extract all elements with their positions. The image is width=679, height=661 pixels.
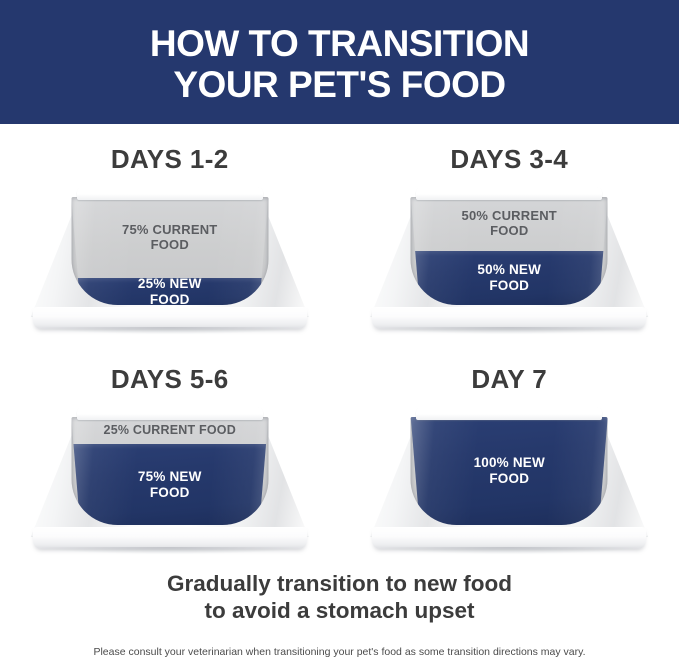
new-food-fill xyxy=(411,417,608,525)
footer: Gradually transition to new food to avoi… xyxy=(0,570,679,658)
tagline-line-2: to avoid a stomach upset xyxy=(204,597,474,624)
header-title-line-1: HOW TO TRANSITION xyxy=(150,23,529,64)
bowl-rim xyxy=(77,187,263,200)
infographic-page: HOW TO TRANSITION YOUR PET'S FOOD DAYS 1… xyxy=(0,0,679,661)
bowl-foot xyxy=(372,307,646,329)
bowl-foot xyxy=(372,527,646,549)
bowl-rim xyxy=(416,407,602,420)
food-bowl-step-1: 75% CURRENTFOOD 25% NEWFOOD xyxy=(31,186,309,330)
transition-step-3: DAYS 5-6 25% CURRENT FOOD 75% NEWFOOD xyxy=(0,344,340,564)
bowl-cavity-inner xyxy=(71,417,268,525)
bowl-cavity: 50% CURRENTFOOD 50% NEWFOOD xyxy=(411,197,608,305)
bowl-rim xyxy=(416,187,602,200)
food-bowl-step-3: 25% CURRENT FOOD 75% NEWFOOD xyxy=(31,406,309,550)
transition-step-4: DAY 7 100% NEWFOOD xyxy=(340,344,679,564)
bowl-cavity-inner xyxy=(411,417,608,525)
day-label-step-3: DAYS 5-6 xyxy=(111,364,229,395)
food-bowl-step-2: 50% CURRENTFOOD 50% NEWFOOD xyxy=(370,186,648,330)
transition-steps-grid: DAYS 1-2 75% CURRENTFOOD 25% NEWFOOD xyxy=(0,124,679,564)
header-banner: HOW TO TRANSITION YOUR PET'S FOOD xyxy=(0,0,679,124)
day-label-step-4: DAY 7 xyxy=(471,364,547,395)
bowl-foot xyxy=(33,527,307,549)
food-bowl-step-4: 100% NEWFOOD xyxy=(370,406,648,550)
new-food-fill xyxy=(411,251,608,305)
bowl-cavity-inner xyxy=(71,197,268,305)
bowl-cavity-inner xyxy=(411,197,608,305)
day-label-step-2: DAYS 3-4 xyxy=(450,144,568,175)
transition-step-1: DAYS 1-2 75% CURRENTFOOD 25% NEWFOOD xyxy=(0,124,340,344)
new-food-fill xyxy=(71,444,268,525)
new-food-fill xyxy=(71,278,268,305)
header-title-line-2: YOUR PET'S FOOD xyxy=(173,64,505,105)
bowl-cavity: 100% NEWFOOD xyxy=(411,417,608,525)
bowl-foot xyxy=(33,307,307,329)
bowl-cavity: 25% CURRENT FOOD 75% NEWFOOD xyxy=(71,417,268,525)
bowl-cavity: 75% CURRENTFOOD 25% NEWFOOD xyxy=(71,197,268,305)
disclaimer-text: Please consult your veterinarian when tr… xyxy=(93,646,585,658)
bowl-rim xyxy=(77,407,263,420)
tagline-line-1: Gradually transition to new food xyxy=(167,570,512,597)
day-label-step-1: DAYS 1-2 xyxy=(111,144,229,175)
transition-step-2: DAYS 3-4 50% CURRENTFOOD 50% NEWFOOD xyxy=(340,124,679,344)
